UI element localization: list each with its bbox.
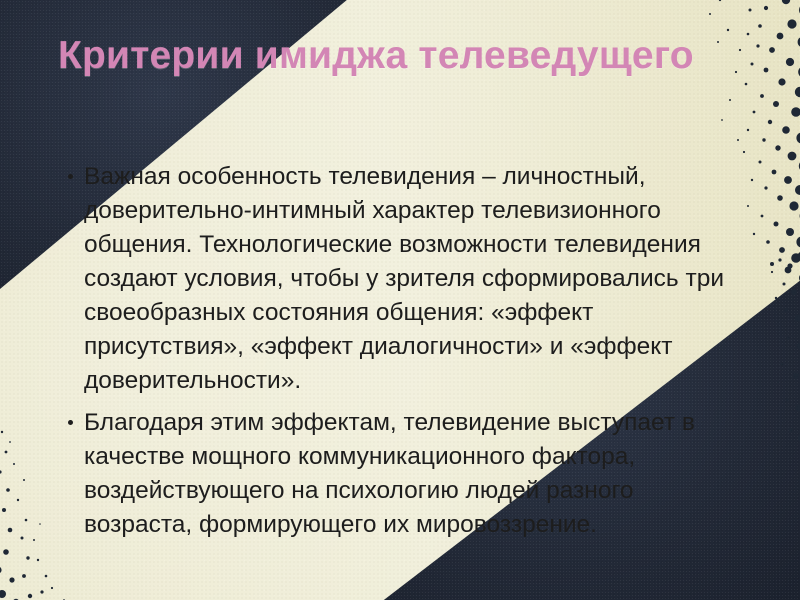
presentation-slide: Критерии имиджа телеведущего Важная особ… — [0, 0, 800, 600]
list-item-text: Важная особенность телевидения – личност… — [84, 160, 726, 398]
list-item: Важная особенность телевидения – личност… — [66, 160, 726, 398]
list-item: Благодаря этим эффектам, телевидение выс… — [66, 406, 726, 542]
slide-body: Важная особенность телевидения – личност… — [66, 160, 726, 550]
list-item-text: Благодаря этим эффектам, телевидение выс… — [84, 406, 726, 542]
slide-title: Критерии имиджа телеведущего — [58, 34, 698, 78]
bullet-dot-icon — [68, 174, 73, 179]
bullet-dot-icon — [68, 420, 73, 425]
